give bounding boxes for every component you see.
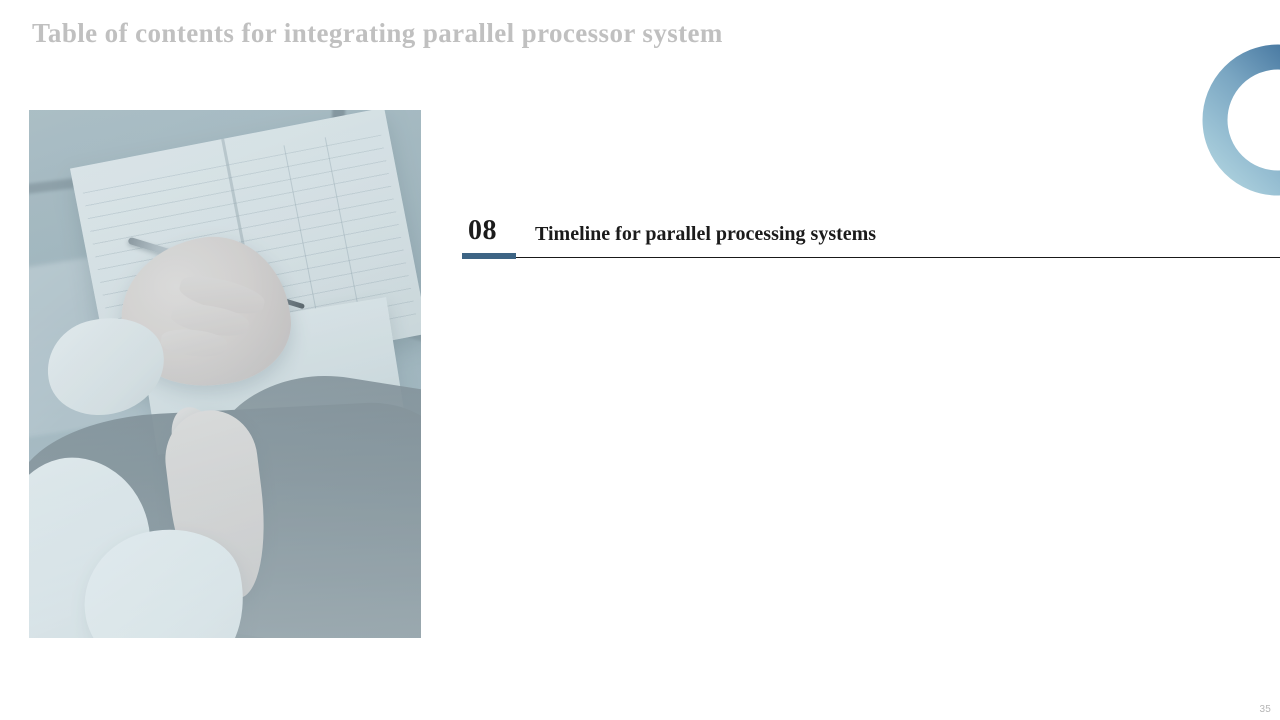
slide-image-notebook-writing (29, 110, 421, 638)
photo-color-wash (29, 110, 421, 638)
toc-entry-rule (462, 257, 1280, 258)
toc-entry-08[interactable]: 08 Timeline for parallel processing syst… (462, 214, 1280, 262)
toc-entry-label: Timeline for parallel processing systems (535, 220, 876, 248)
toc-entry-accent-bar (462, 253, 516, 259)
ring-decoration (1186, 44, 1280, 196)
ring-circle-icon (1186, 44, 1280, 196)
page-number: 35 (1259, 704, 1271, 715)
toc-entry-number: 08 (468, 214, 497, 248)
page-title: Table of contents for integrating parall… (32, 18, 723, 49)
